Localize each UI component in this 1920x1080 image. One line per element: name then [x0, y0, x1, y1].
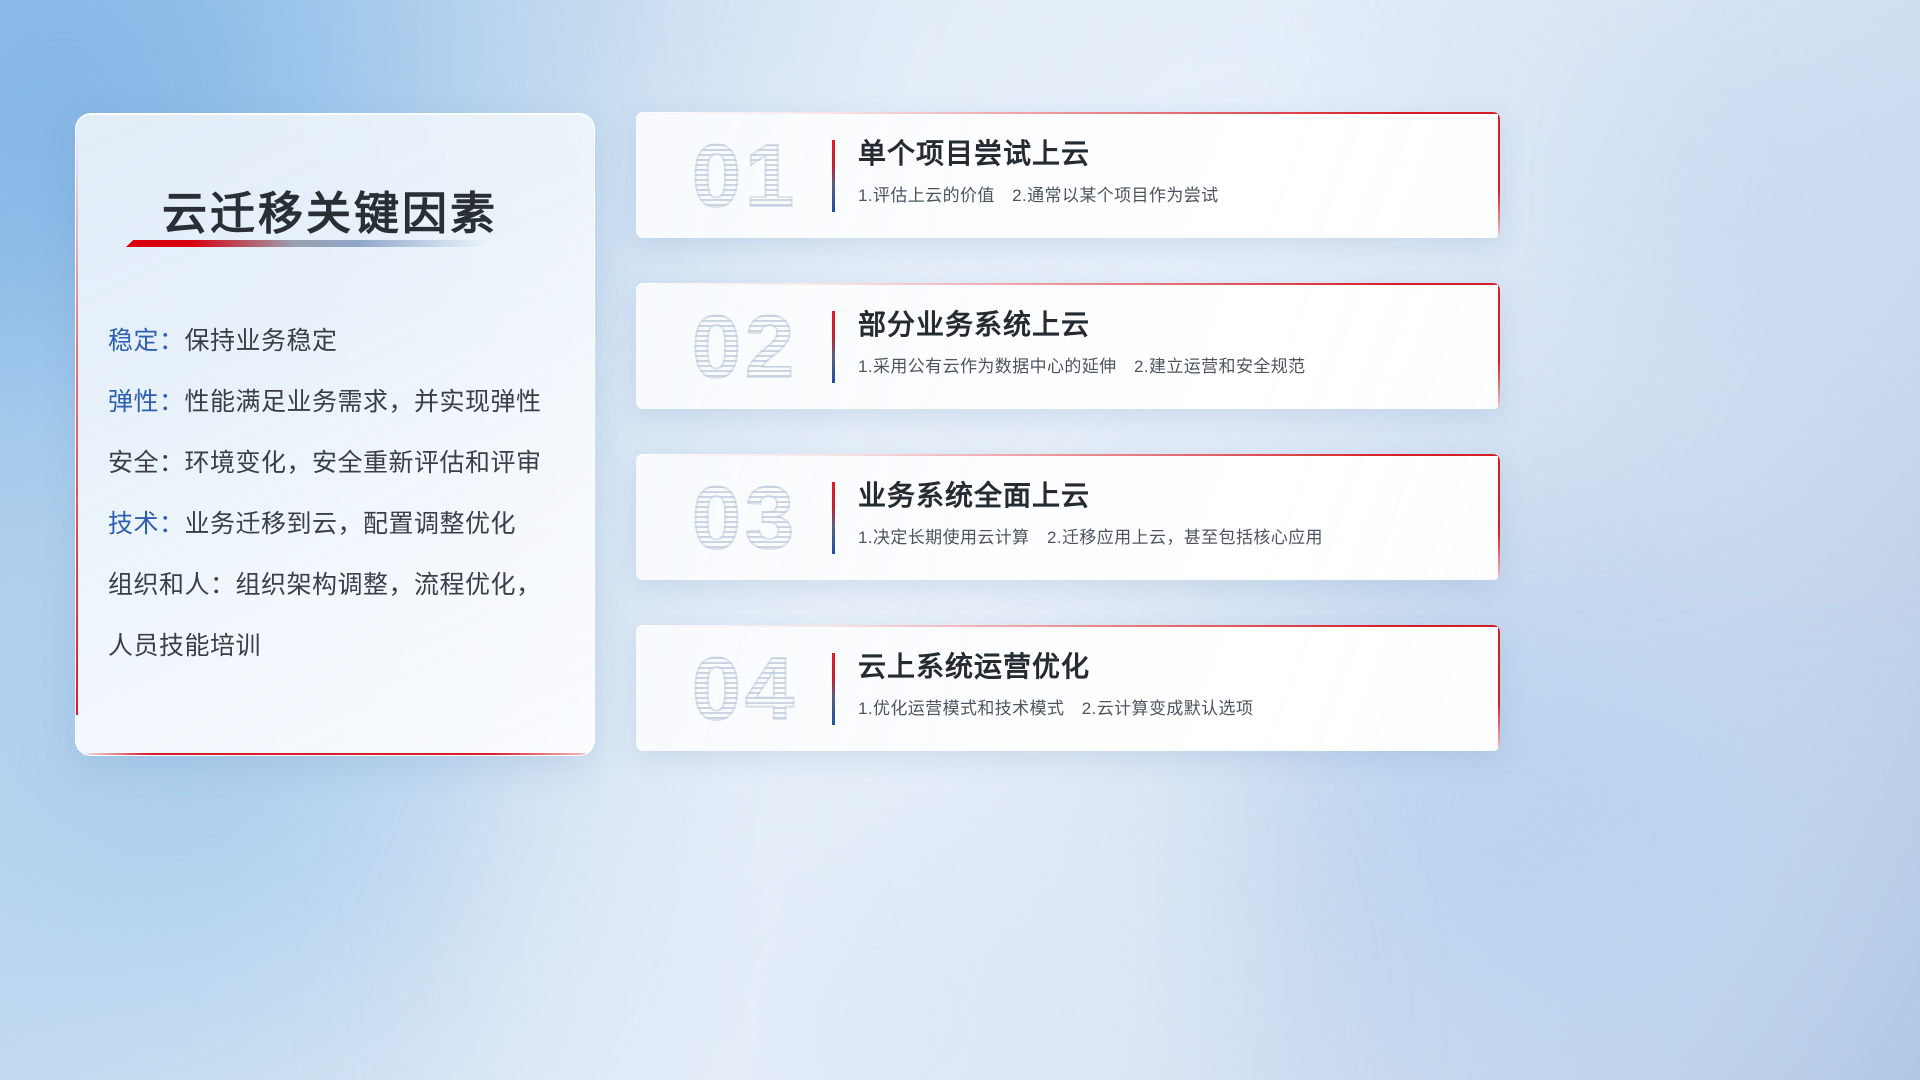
step-description: 1.决定长期使用云计算 2.迁移应用上云，甚至包括核心应用 — [858, 525, 1470, 550]
key-factor-text: 保持业务稳定 — [185, 327, 338, 355]
step-number: 02 — [660, 295, 830, 399]
key-factor-text: 组织架构调整，流程优化， — [236, 571, 542, 599]
step-number: 03 — [660, 466, 830, 570]
key-factor-text: 环境变化，安全重新评估和评审 — [185, 449, 542, 477]
step-description: 1.优化运营模式和技术模式 2.云计算变成默认选项 — [858, 696, 1470, 721]
page-title: 云迁移关键因素 — [162, 177, 498, 242]
key-factor-label: 稳定： — [108, 327, 185, 355]
step-description: 1.采用公有云作为数据中心的延伸 2.建立运营和安全规范 — [858, 354, 1470, 379]
migration-step-card[interactable]: 02部分业务系统上云1.采用公有云作为数据中心的延伸 2.建立运营和安全规范 — [636, 283, 1500, 409]
step-divider-accent — [832, 482, 835, 554]
migration-step-card[interactable]: 04云上系统运营优化1.优化运营模式和技术模式 2.云计算变成默认选项 — [636, 625, 1500, 751]
step-number: 01 — [660, 124, 830, 228]
step-body: 业务系统全面上云1.决定长期使用云计算 2.迁移应用上云，甚至包括核心应用 — [858, 476, 1470, 550]
key-factors-panel: 云迁移关键因素 稳定：保持业务稳定弹性：性能满足业务需求，并实现弹性安全：环境变… — [75, 113, 595, 756]
step-number: 04 — [660, 637, 830, 741]
step-divider-accent — [832, 653, 835, 725]
key-factor-text: 业务迁移到云，配置调整优化 — [185, 510, 517, 538]
key-factor-label: 安全： — [108, 449, 185, 477]
migration-step-card[interactable]: 01单个项目尝试上云1.评估上云的价值 2.通常以某个项目作为尝试 — [636, 112, 1500, 238]
key-factor-row: 人员技能培训 — [108, 616, 568, 677]
step-title: 业务系统全面上云 — [858, 476, 1470, 516]
step-description: 1.评估上云的价值 2.通常以某个项目作为尝试 — [858, 183, 1470, 208]
key-factor-row: 技术：业务迁移到云，配置调整优化 — [108, 494, 568, 555]
key-factor-label: 技术： — [108, 510, 185, 538]
title-underline-accent — [126, 240, 488, 247]
key-factor-row: 稳定：保持业务稳定 — [108, 311, 568, 372]
key-factor-label: 组织和人： — [108, 571, 236, 599]
step-body: 部分业务系统上云1.采用公有云作为数据中心的延伸 2.建立运营和安全规范 — [858, 305, 1470, 379]
key-factor-row: 安全：环境变化，安全重新评估和评审 — [108, 433, 568, 494]
step-title: 云上系统运营优化 — [858, 647, 1470, 687]
step-body: 单个项目尝试上云1.评估上云的价值 2.通常以某个项目作为尝试 — [858, 134, 1470, 208]
key-factors-list: 稳定：保持业务稳定弹性：性能满足业务需求，并实现弹性安全：环境变化，安全重新评估… — [108, 311, 568, 677]
step-title: 部分业务系统上云 — [858, 305, 1470, 345]
slide-stage: 云迁移关键因素 稳定：保持业务稳定弹性：性能满足业务需求，并实现弹性安全：环境变… — [0, 0, 1920, 1080]
key-factor-text: 性能满足业务需求，并实现弹性 — [185, 388, 542, 416]
step-divider-accent — [832, 140, 835, 212]
step-divider-accent — [832, 311, 835, 383]
key-factor-row: 组织和人：组织架构调整，流程优化， — [108, 555, 568, 616]
migration-steps-list: 01单个项目尝试上云1.评估上云的价值 2.通常以某个项目作为尝试02部分业务系… — [636, 112, 1500, 796]
migration-step-card[interactable]: 03业务系统全面上云1.决定长期使用云计算 2.迁移应用上云，甚至包括核心应用 — [636, 454, 1500, 580]
step-body: 云上系统运营优化1.优化运营模式和技术模式 2.云计算变成默认选项 — [858, 647, 1470, 721]
key-factor-label: 弹性： — [108, 388, 185, 416]
key-factor-text: 人员技能培训 — [108, 632, 261, 660]
key-factor-row: 弹性：性能满足业务需求，并实现弹性 — [108, 372, 568, 433]
step-title: 单个项目尝试上云 — [858, 134, 1470, 174]
